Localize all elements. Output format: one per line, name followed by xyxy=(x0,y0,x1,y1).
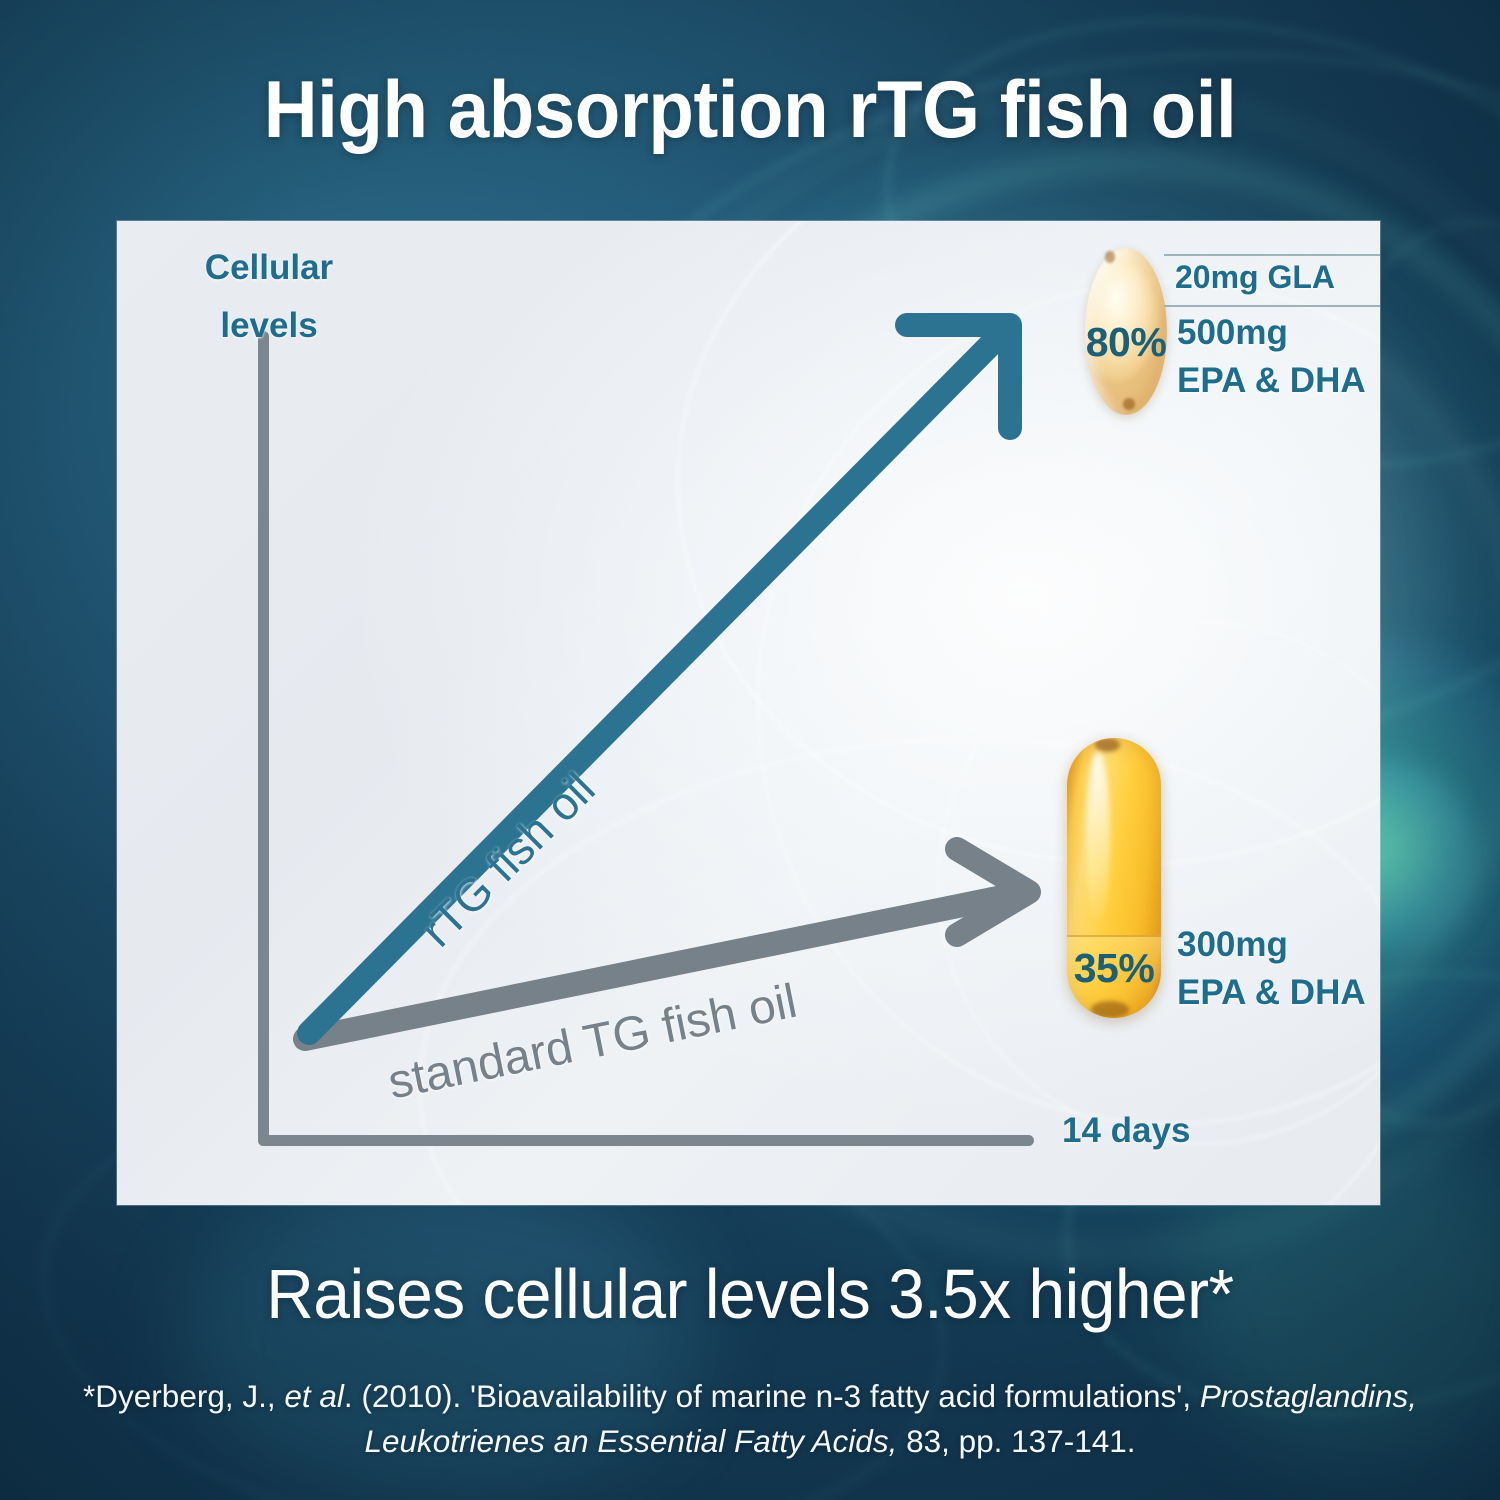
standard-tg-dose-compound: EPA & DHA xyxy=(1177,969,1366,1017)
citation-et-al: et al xyxy=(284,1378,344,1414)
capsule-seam xyxy=(1067,935,1161,937)
product-infographic: High absorption rTG fish oil Cellular le… xyxy=(0,0,1500,1500)
standard-tg-dose-amount: 300mg xyxy=(1177,921,1366,969)
rtg-gla-label: 20mg GLA xyxy=(1175,259,1335,296)
series-label-rtg: rTG fish oil xyxy=(410,762,605,957)
citation-middle: . (2010). 'Bioavailability of marine n-3… xyxy=(344,1378,1200,1414)
x-axis-label: 14 days xyxy=(1062,1111,1190,1151)
standard-tg-absorption-percent: 35% xyxy=(1067,945,1161,992)
rtg-dose-compound: EPA & DHA xyxy=(1177,357,1366,405)
page-title: High absorption rTG fish oil xyxy=(60,62,1440,158)
tagline: Raises cellular levels 3.5x higher* xyxy=(45,1252,1455,1336)
series-label-standard-tg: standard TG fish oil xyxy=(384,974,802,1111)
citation-prefix: *Dyerberg, J., xyxy=(83,1378,284,1414)
y-axis-label: Cellular levels xyxy=(179,239,359,355)
chart-panel: Cellular levels 14 days rTG fish oil sta… xyxy=(117,221,1380,1205)
rtg-dose-amount: 500mg xyxy=(1177,309,1366,357)
gla-callout-rule-top xyxy=(1164,254,1380,256)
capsule-seal-mark xyxy=(1095,738,1119,752)
capsule-highlight xyxy=(1086,752,1110,926)
y-axis xyxy=(258,331,269,1146)
x-axis xyxy=(258,1135,1034,1146)
rtg-absorption-percent: 80% xyxy=(1085,319,1167,366)
rtg-dose-label: 500mg EPA & DHA xyxy=(1177,309,1366,405)
citation-footnote: *Dyerberg, J., et al. (2010). 'Bioavaila… xyxy=(50,1374,1450,1464)
capsule-seal-mark xyxy=(1091,1001,1129,1018)
gla-callout-rule-bottom xyxy=(1164,305,1380,307)
standard-tg-dose-label: 300mg EPA & DHA xyxy=(1177,921,1366,1017)
capsule-seal-mark xyxy=(1123,398,1135,410)
rtg-arrow xyxy=(309,325,1010,1033)
citation-suffix: 83, pp. 137-141. xyxy=(897,1423,1135,1459)
capsule-seal-mark xyxy=(1105,251,1116,263)
